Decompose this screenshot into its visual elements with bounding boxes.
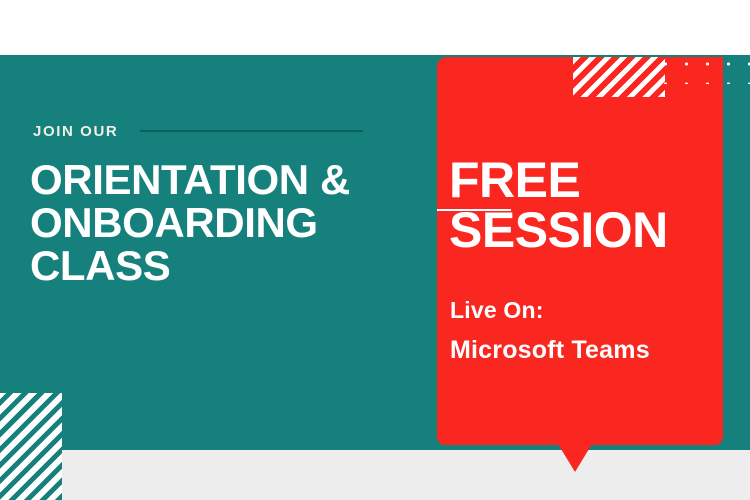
diagonal-stripes-top-right-decoration <box>573 57 665 97</box>
eyebrow-divider <box>140 130 363 132</box>
dot-grid-top-right-decoration <box>655 54 750 84</box>
diagonal-stripes-bottom-left-decoration <box>0 393 62 500</box>
eyebrow-label: JOIN OUR <box>33 123 118 140</box>
page-title: ORIENTATION & ONBOARDING CLASS <box>30 158 450 287</box>
live-on-label: Live On: <box>450 297 544 324</box>
promo-poster: JOIN OUR ORIENTATION & ONBOARDING CLASS … <box>0 0 750 500</box>
offer-underline-divider <box>437 209 511 211</box>
offer-title: FREE SESSION <box>449 155 721 255</box>
bottom-gray-band <box>0 450 750 500</box>
live-platform-value: Microsoft Teams <box>450 336 650 365</box>
eyebrow-row: JOIN OUR <box>33 120 363 142</box>
speech-bubble-tail-icon <box>558 444 592 472</box>
